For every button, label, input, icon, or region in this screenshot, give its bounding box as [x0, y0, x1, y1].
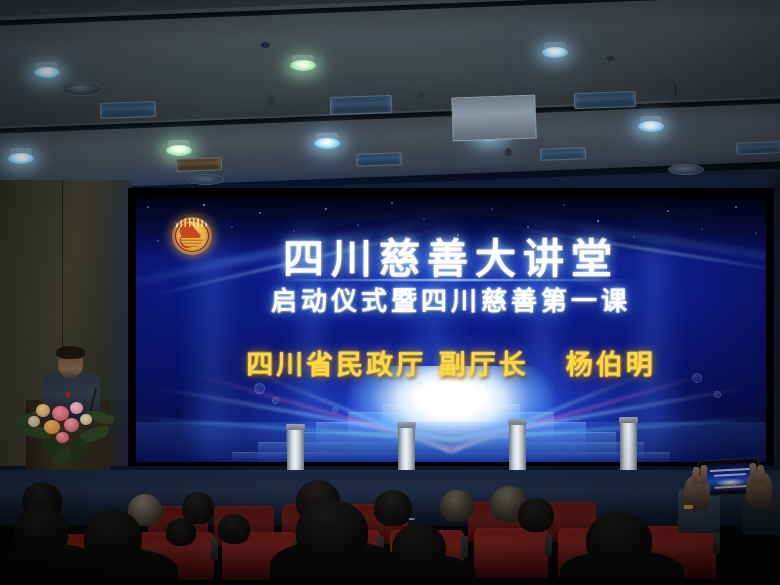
flower [64, 418, 79, 432]
audience-head [218, 514, 250, 544]
ceiling-sensor-5 [606, 56, 615, 61]
spot-lamp [542, 47, 568, 58]
ceiling-spot-8 [638, 116, 664, 131]
spot-lamp [8, 153, 34, 164]
ceiling-vent-1 [100, 101, 157, 119]
spot-lamp [314, 138, 340, 149]
finger [699, 465, 707, 485]
flower [80, 414, 92, 425]
ceiling-vent-round-1 [62, 82, 102, 96]
seat-armrest [461, 536, 468, 558]
speaker-hair [56, 346, 85, 359]
ceiling-vent-3 [574, 91, 637, 109]
screen-text-layer: 四川慈善大讲堂 启动仪式暨四川慈善第一课 四川省民政厅 副厅长 杨伯明 [136, 197, 766, 462]
spot-lamp [166, 145, 192, 156]
audience-head [84, 510, 142, 564]
spot-lamp [638, 121, 664, 132]
spot-lamp [34, 67, 60, 78]
audience-area [0, 470, 780, 585]
ceiling-sensor-3 [505, 148, 512, 156]
audience-head [14, 506, 68, 558]
ceiling-spot-6 [314, 133, 340, 148]
ceiling-vent-6 [540, 147, 586, 161]
seat [474, 528, 548, 578]
ceiling-vent-round-3 [668, 164, 704, 175]
audience-head [440, 490, 474, 522]
ceiling-sensor-2 [418, 92, 424, 98]
audience-head [586, 512, 652, 568]
ceiling-spot-3 [542, 42, 568, 57]
screen-title-main: 四川慈善大讲堂 [136, 225, 766, 285]
flower [70, 402, 83, 414]
ceiling-cable [662, 78, 676, 96]
ceiling-vent-7 [736, 141, 780, 155]
led-screen: 四川慈善大讲堂 启动仪式暨四川慈善第一课 四川省民政厅 副厅长 杨伯明 [136, 197, 766, 462]
wristwatch [684, 505, 693, 509]
flower-bouquet [12, 392, 122, 464]
screen-title-sub: 启动仪式暨四川慈善第一课 [136, 281, 766, 318]
ceiling-vent-4 [176, 157, 222, 172]
column-cap [397, 422, 416, 428]
seat-armrest [211, 538, 218, 560]
seat-armrest [545, 534, 552, 556]
ceiling-sensor-1 [268, 97, 275, 106]
ceiling [0, 0, 780, 200]
audience-head [374, 490, 412, 526]
flower [56, 432, 69, 443]
audience-member-recording [680, 455, 780, 550]
ceiling-spot-4 [8, 148, 34, 163]
spot-lamp [290, 60, 316, 71]
flower [36, 404, 50, 417]
ceiling-vent-round-2 [188, 174, 224, 185]
audience-head [166, 518, 196, 546]
conference-hall-photo: 四川慈善大讲堂 启动仪式暨四川慈善第一课 四川省民政厅 副厅长 杨伯明 [0, 0, 780, 585]
screen-speaker-line: 四川省民政厅 副厅长 杨伯明 [136, 343, 766, 382]
ceiling-vent-2 [330, 95, 393, 115]
audience-head [296, 500, 368, 562]
ceiling-vent-5 [356, 152, 402, 167]
ceiling-spot-5 [166, 140, 192, 155]
ceiling-spot-2 [290, 55, 316, 70]
audience-head [518, 498, 554, 532]
flower [28, 416, 40, 427]
column-cap [286, 424, 305, 430]
ceiling-sensor-4 [261, 42, 270, 48]
column-cap [619, 417, 638, 423]
flower [44, 420, 60, 434]
audience-head [392, 524, 446, 572]
led-screen-frame: 四川慈善大讲堂 启动仪式暨四川慈善第一课 四川省民政厅 副厅长 杨伯明 [128, 188, 774, 470]
ceiling-projector-panel [451, 95, 536, 142]
ceiling-spot-1 [34, 62, 60, 77]
column-cap [508, 419, 527, 425]
